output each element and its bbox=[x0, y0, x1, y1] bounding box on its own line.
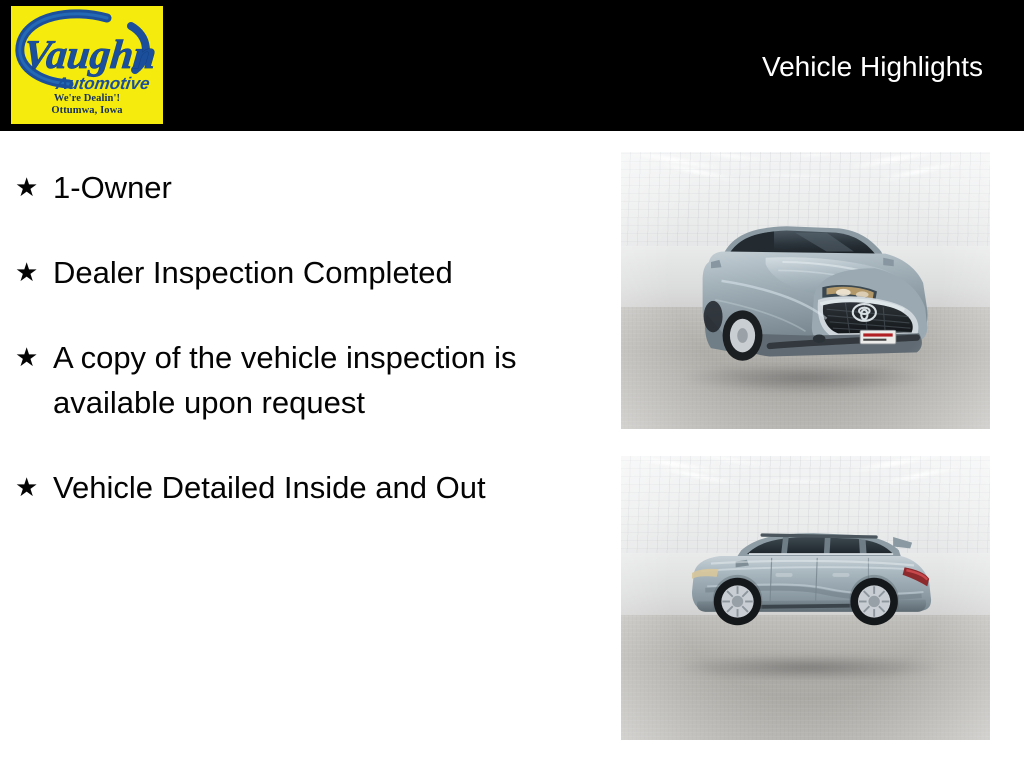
page-header: Vaughn Automotive We're Dealin'! Ottumwa… bbox=[0, 0, 1024, 131]
list-item: ★ 1-Owner bbox=[0, 165, 600, 210]
list-item-label: Dealer Inspection Completed bbox=[53, 255, 453, 290]
list-item: ★ Vehicle Detailed Inside and Out bbox=[0, 465, 600, 510]
svg-text:Automotive: Automotive bbox=[54, 74, 152, 93]
vehicle-photo-front-three-quarter bbox=[621, 152, 990, 429]
suv-side-profile-illustration bbox=[673, 518, 939, 641]
list-item-label: 1-Owner bbox=[53, 170, 172, 205]
list-item: ★ A copy of the vehicle inspection is av… bbox=[0, 335, 600, 425]
dealer-logo-tagline: We're Dealin'! Ottumwa, Iowa bbox=[11, 93, 163, 117]
page-title: Vehicle Highlights bbox=[762, 50, 983, 84]
star-bullet-icon: ★ bbox=[15, 335, 38, 380]
star-bullet-icon: ★ bbox=[15, 465, 38, 510]
tagline-line-2: Ottumwa, Iowa bbox=[11, 105, 163, 117]
list-item-label: Vehicle Detailed Inside and Out bbox=[53, 470, 486, 505]
star-bullet-icon: ★ bbox=[15, 165, 38, 210]
dealer-logo: Vaughn Automotive We're Dealin'! Ottumwa… bbox=[11, 6, 163, 124]
tagline-line-1: We're Dealin'! bbox=[11, 93, 163, 105]
list-item-label: A copy of the vehicle inspection is avai… bbox=[53, 340, 517, 420]
suv-front-three-quarter-illustration bbox=[669, 199, 942, 388]
vaughn-automotive-logo-graphic: Vaughn Automotive bbox=[11, 6, 163, 106]
list-item: ★ Dealer Inspection Completed bbox=[0, 250, 600, 295]
svg-text:Vaughn: Vaughn bbox=[22, 31, 159, 77]
vehicle-photo-side-profile bbox=[621, 456, 990, 740]
vehicle-highlights-list: ★ 1-Owner ★ Dealer Inspection Completed … bbox=[0, 131, 600, 510]
star-bullet-icon: ★ bbox=[15, 250, 38, 295]
